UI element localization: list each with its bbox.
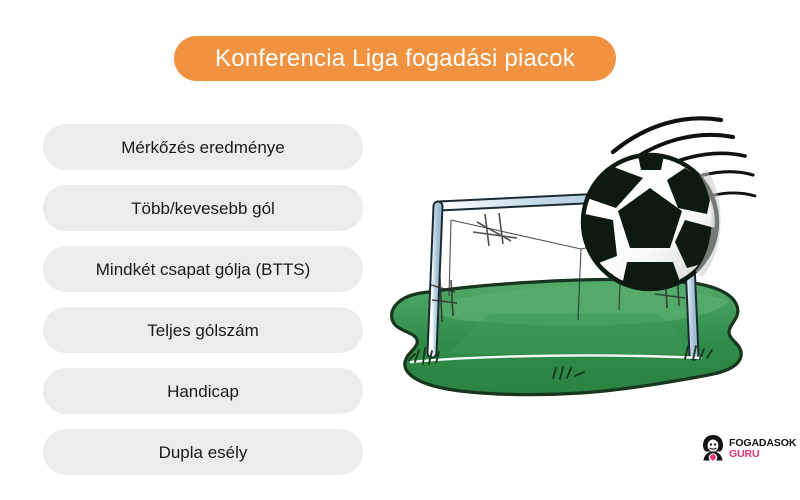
market-label: Handicap <box>167 383 239 400</box>
market-label: Dupla esély <box>159 444 248 461</box>
market-label: Teljes gólszám <box>147 322 259 339</box>
market-item-double-chance[interactable]: Dupla esély <box>43 429 363 475</box>
market-item-over-under[interactable]: Több/kevesebb gól <box>43 185 363 231</box>
market-label: Mindkét csapat gólja (BTTS) <box>96 261 310 278</box>
brand-logo-text: FOGADASOK GURU <box>729 438 796 459</box>
betting-markets-list: Mérkőzés eredménye Több/kevesebb gól Min… <box>43 124 363 475</box>
guru-mascot-icon <box>700 434 726 464</box>
page-title-banner: Konferencia Liga fogadási piacok <box>174 36 616 81</box>
market-label: Mérkőzés eredménye <box>121 139 284 156</box>
soccer-goal-illustration <box>385 110 795 405</box>
brand-name-secondary: GURU <box>729 449 796 460</box>
brand-logo[interactable]: FOGADASOK GURU <box>700 430 795 468</box>
market-item-match-result[interactable]: Mérkőzés eredménye <box>43 124 363 170</box>
market-item-btts[interactable]: Mindkét csapat gólja (BTTS) <box>43 246 363 292</box>
market-item-handicap[interactable]: Handicap <box>43 368 363 414</box>
infographic-canvas: Konferencia Liga fogadási piacok Mérkőzé… <box>0 0 800 500</box>
soccer-goal-svg <box>385 110 795 405</box>
market-label: Több/kevesebb gól <box>131 200 275 217</box>
page-title: Konferencia Liga fogadási piacok <box>215 47 575 71</box>
market-item-total-goals[interactable]: Teljes gólszám <box>43 307 363 353</box>
